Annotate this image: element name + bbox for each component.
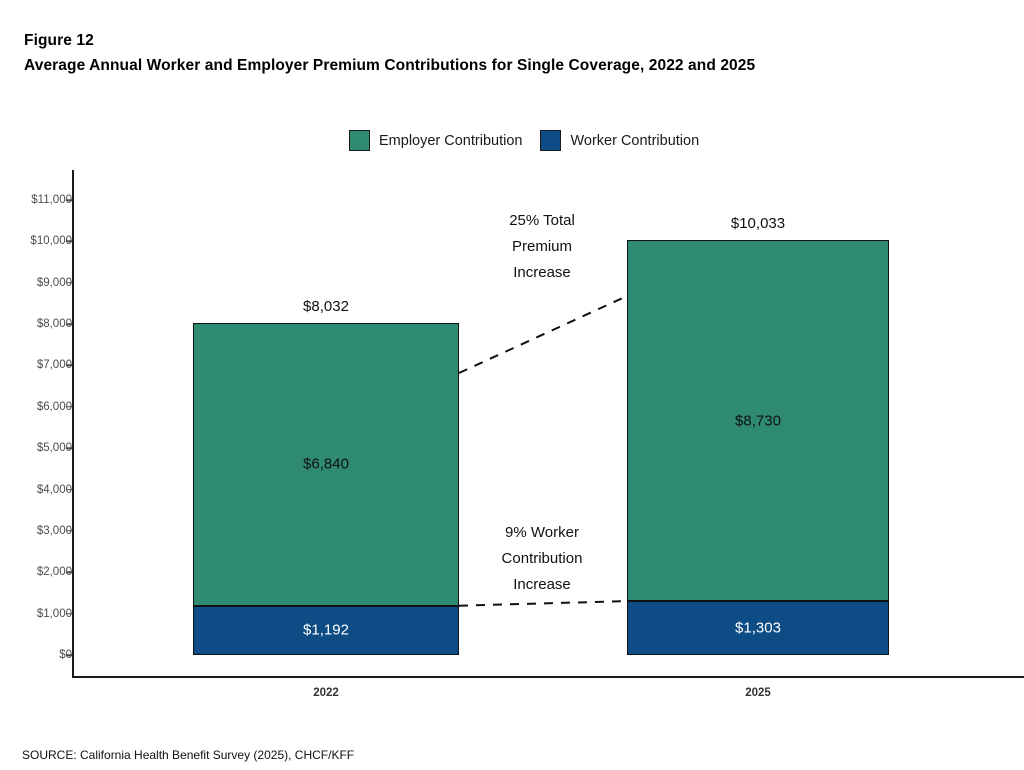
y-tick-label: $0 xyxy=(14,649,72,661)
annotation-line: Premium xyxy=(458,234,626,260)
bar-value-label-worker-2025: $1,303 xyxy=(627,620,889,637)
chart-plot-area: $0$1,000$2,000$3,000$4,000$5,000$6,000$7… xyxy=(0,0,1024,770)
y-tick-label: $4,000 xyxy=(14,484,72,496)
x-tick-label-2022: 2022 xyxy=(193,687,459,699)
bar-total-label-2022: $8,032 xyxy=(193,298,459,315)
y-tick-label: $8,000 xyxy=(14,318,72,330)
y-tick-label: $6,000 xyxy=(14,401,72,413)
y-tick-label: $10,000 xyxy=(14,235,72,247)
annotation-total-premium-increase: 25% TotalPremiumIncrease xyxy=(458,208,626,286)
bar-value-label-worker-2022: $1,192 xyxy=(193,622,459,639)
connector-worker-contribution xyxy=(459,601,627,606)
y-tick-label: $3,000 xyxy=(14,525,72,537)
y-tick-label: $1,000 xyxy=(14,608,72,620)
y-tick-label: $2,000 xyxy=(14,566,72,578)
annotation-line: Increase xyxy=(458,260,626,286)
y-tick-label: $5,000 xyxy=(14,442,72,454)
connector-total-premium xyxy=(459,296,627,373)
bar-value-label-employer-2022: $6,840 xyxy=(193,456,459,473)
bar-value-label-employer-2025: $8,730 xyxy=(627,412,889,429)
bar-total-label-2025: $10,033 xyxy=(627,215,889,232)
annotation-worker-contribution-increase: 9% WorkerContributionIncrease xyxy=(458,520,626,598)
source-note: SOURCE: California Health Benefit Survey… xyxy=(22,748,354,762)
annotation-line: 25% Total xyxy=(458,208,626,234)
y-tick-label: $7,000 xyxy=(14,359,72,371)
x-axis-line xyxy=(72,676,1024,678)
annotation-line: Contribution xyxy=(458,546,626,572)
y-tick-label: $11,000 xyxy=(14,194,72,206)
annotation-line: Increase xyxy=(458,572,626,598)
y-tick-label: $9,000 xyxy=(14,277,72,289)
annotation-line: 9% Worker xyxy=(458,520,626,546)
y-axis-spine xyxy=(72,170,74,678)
x-tick-label-2025: 2025 xyxy=(627,687,889,699)
